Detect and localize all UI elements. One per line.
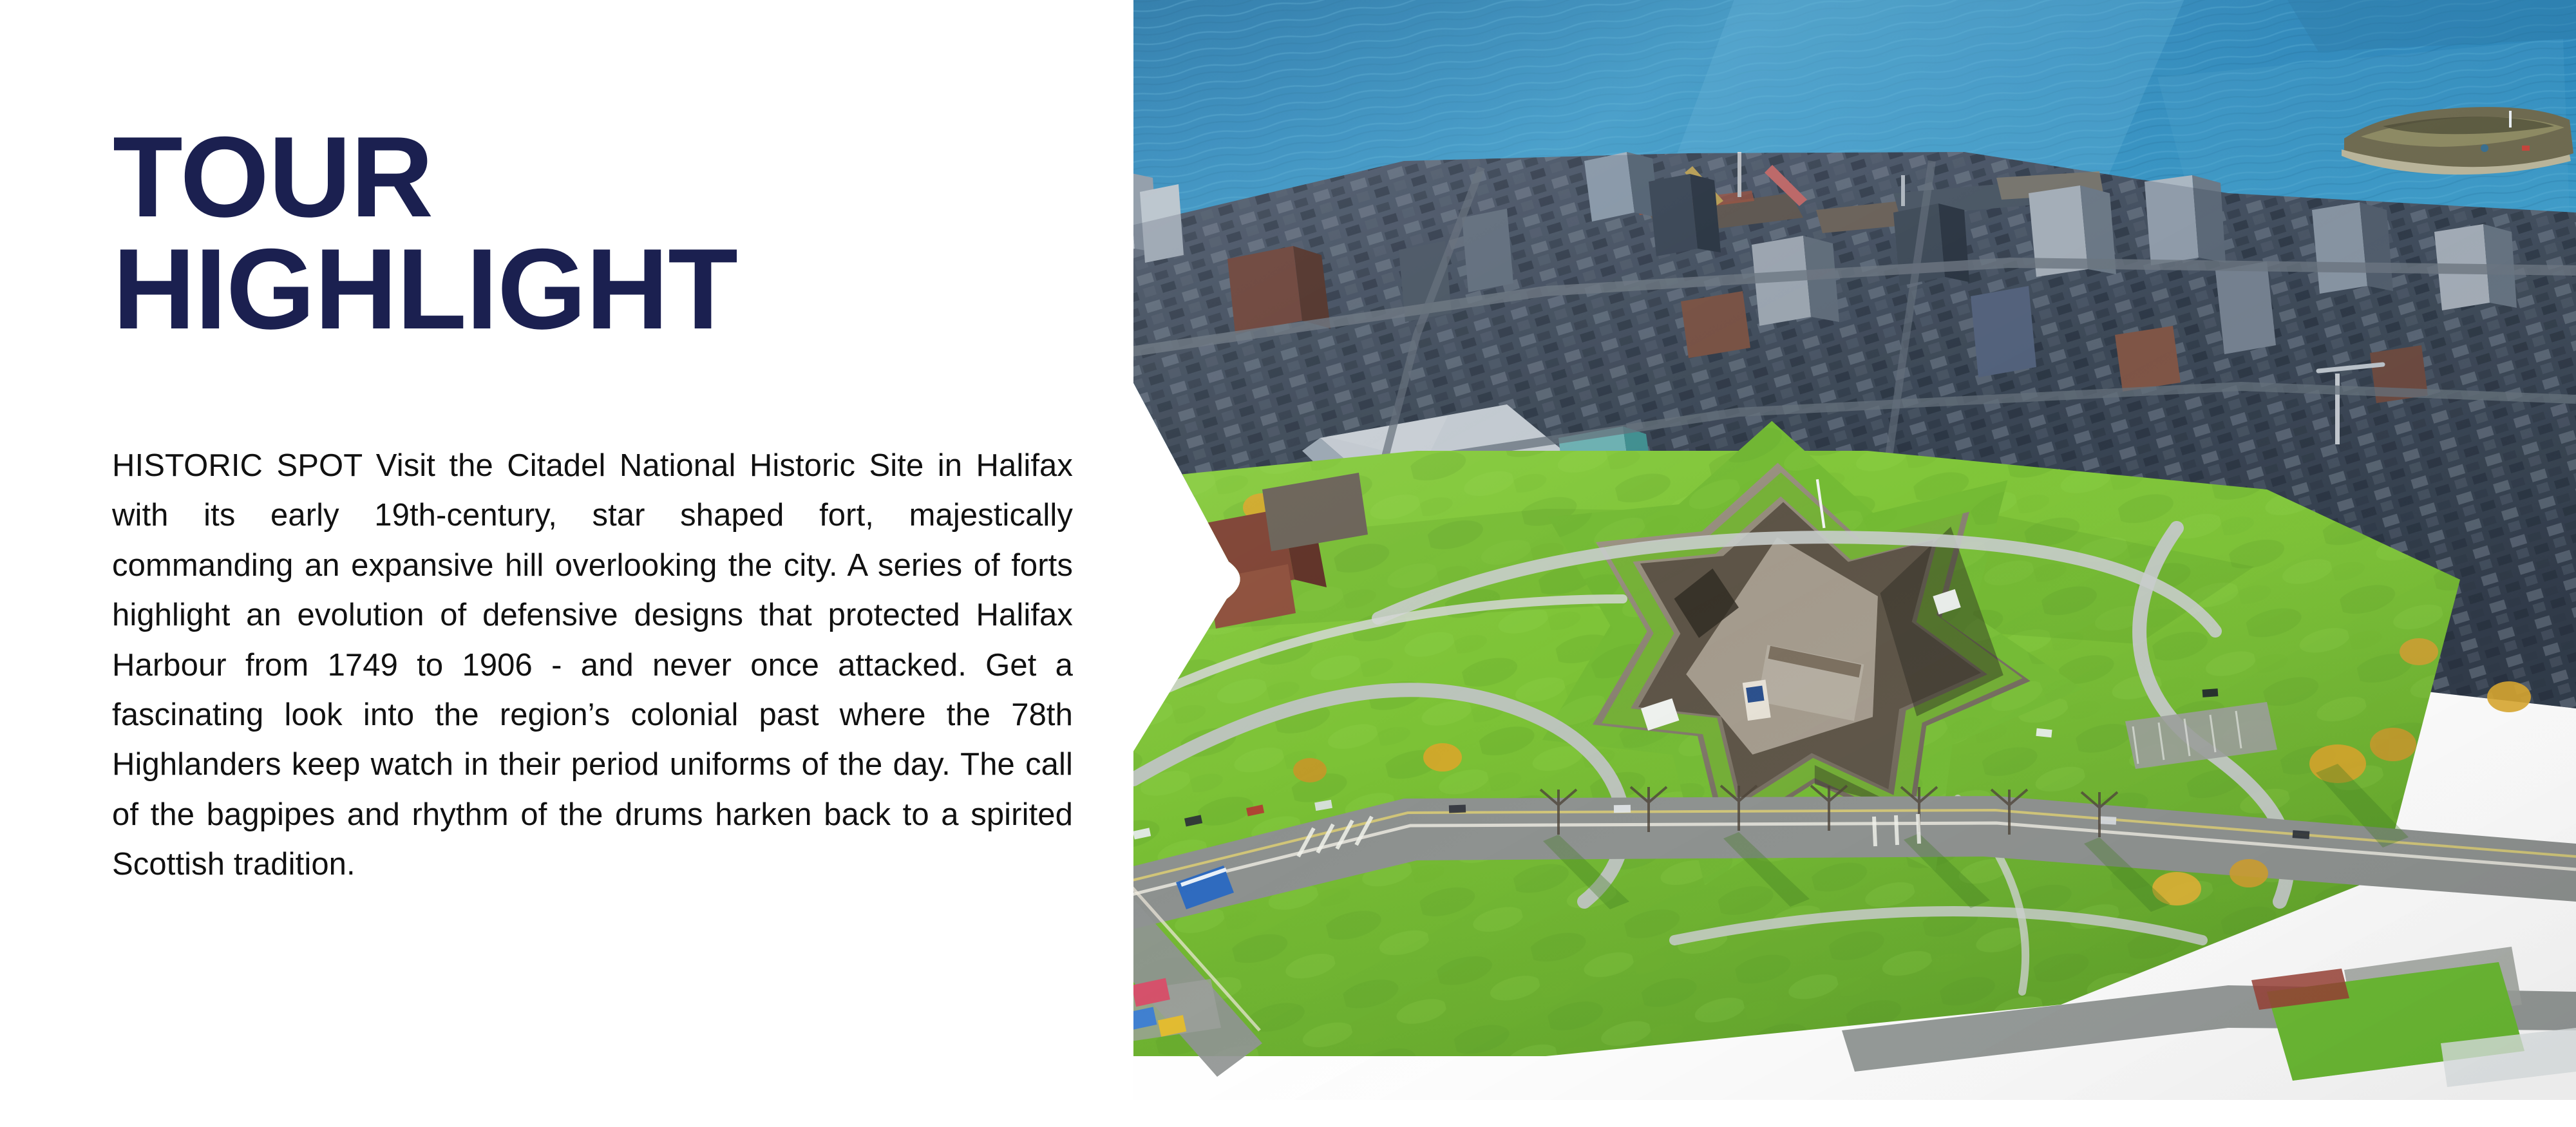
photo-clipped-scene xyxy=(889,0,2576,1127)
text-panel: TOUR HIGHLIGHT HISTORIC SPOT Visit the C… xyxy=(0,0,1133,1127)
page-title: TOUR HIGHLIGHT xyxy=(113,121,1046,346)
body-paragraph: HISTORIC SPOT Visit the Citadel National… xyxy=(112,441,1073,890)
